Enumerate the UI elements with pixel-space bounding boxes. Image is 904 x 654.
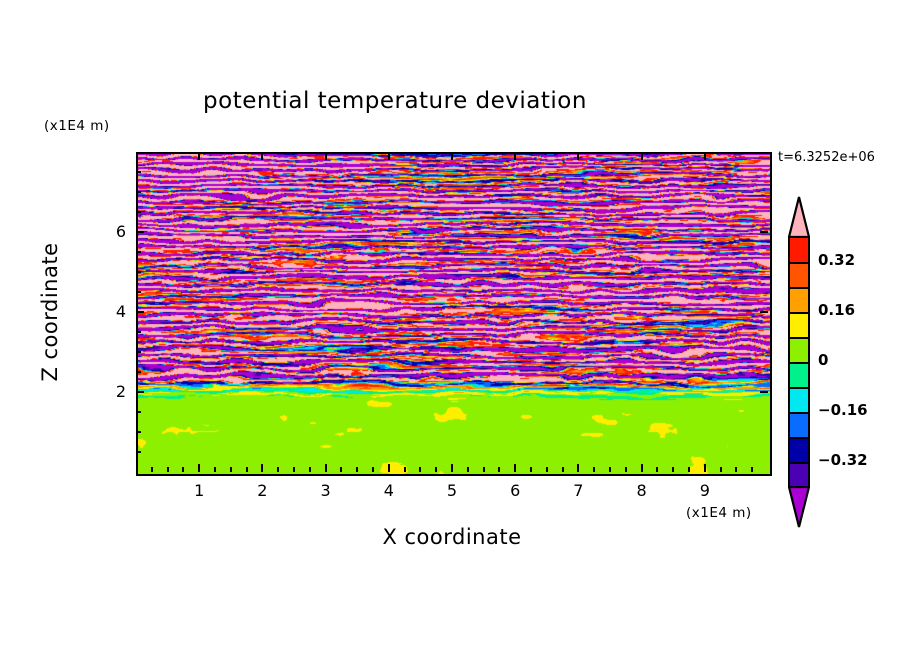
colorbar-separator <box>790 362 808 364</box>
x-minor-tick <box>435 467 437 472</box>
colorbar: 0.320.160−0.16−0.32 <box>788 196 812 526</box>
x-tick-mark <box>198 464 200 472</box>
x-tick-label: 2 <box>247 481 277 500</box>
y-tick-label: 2 <box>96 382 126 401</box>
x-minor-tick <box>656 467 658 472</box>
x-minor-tick <box>309 467 311 472</box>
y-minor-tick <box>136 331 141 333</box>
colorbar-band <box>790 338 808 364</box>
x-minor-tick <box>735 467 737 472</box>
x-minor-tick <box>246 467 248 472</box>
y-minor-tick <box>136 311 141 313</box>
contour-field-canvas <box>138 154 770 474</box>
y-minor-tick <box>136 271 141 273</box>
x-minor-tick <box>151 467 153 472</box>
x-tick-label: 7 <box>563 481 593 500</box>
colorbar-separator <box>790 312 808 314</box>
x-minor-tick <box>672 467 674 472</box>
colorbar-band <box>790 413 808 439</box>
x-tick-mark <box>388 152 390 160</box>
colorbar-separator <box>790 387 808 389</box>
x-tick-label: 9 <box>690 481 720 500</box>
x-tick-mark <box>577 152 579 160</box>
colorbar-separator <box>790 462 808 464</box>
x-minor-tick <box>625 467 627 472</box>
y-minor-tick <box>136 431 141 433</box>
x-tick-mark <box>577 464 579 472</box>
contour-plot-area <box>136 152 772 476</box>
x-tick-label: 6 <box>500 481 530 500</box>
x-tick-mark <box>641 464 643 472</box>
colorbar-band <box>790 238 808 264</box>
page-title: potential temperature deviation <box>0 88 790 114</box>
x-minor-tick <box>167 467 169 472</box>
x-tick-mark <box>451 464 453 472</box>
y-minor-tick <box>136 251 141 253</box>
colorbar-tick-label: 0.32 <box>818 251 855 269</box>
colorbar-band <box>790 313 808 339</box>
x-minor-tick <box>720 467 722 472</box>
colorbar-tick-label: −0.32 <box>818 451 868 469</box>
x-minor-tick <box>404 467 406 472</box>
colorbar-tick-label: −0.16 <box>818 401 868 419</box>
x-minor-tick <box>483 467 485 472</box>
x-tick-mark <box>514 464 516 472</box>
colorbar-separator <box>790 337 808 339</box>
x-tick-label: 3 <box>311 481 341 500</box>
y-minor-tick <box>136 231 141 233</box>
x-tick-mark <box>198 152 200 160</box>
colorbar-over-arrow <box>788 196 810 238</box>
x-minor-tick <box>562 467 564 472</box>
y-tick-label: 4 <box>96 302 126 321</box>
y-axis-title: Z coordinate <box>38 232 62 392</box>
y-minor-tick <box>136 371 141 373</box>
x-tick-mark <box>704 464 706 472</box>
colorbar-band <box>790 388 808 414</box>
x-tick-mark <box>261 464 263 472</box>
colorbar-band <box>790 438 808 464</box>
x-minor-tick <box>182 467 184 472</box>
x-axis-unit-label: (x1E4 m) <box>686 505 752 521</box>
x-minor-tick <box>530 467 532 472</box>
y-minor-tick <box>136 391 141 393</box>
x-minor-tick <box>419 467 421 472</box>
x-tick-mark <box>388 464 390 472</box>
x-tick-mark <box>514 152 516 160</box>
timestamp-label: t=6.3252e+06 <box>778 150 875 165</box>
y-minor-tick <box>136 451 141 453</box>
y-minor-tick <box>136 211 141 213</box>
y-tick-mark <box>760 391 768 393</box>
colorbar-tick-label: 0.16 <box>818 301 855 319</box>
colorbar-separator <box>790 262 808 264</box>
x-minor-tick <box>214 467 216 472</box>
x-axis-title: X coordinate <box>136 525 768 549</box>
x-minor-tick <box>546 467 548 472</box>
colorbar-tick-label: 0 <box>818 351 828 369</box>
y-minor-tick <box>136 191 141 193</box>
y-minor-tick <box>136 171 141 173</box>
y-minor-tick <box>136 291 141 293</box>
colorbar-band <box>790 263 808 289</box>
colorbar-band <box>790 288 808 314</box>
colorbar-band <box>790 363 808 389</box>
x-tick-mark <box>704 152 706 160</box>
figure-canvas: potential temperature deviation (x1E4 m)… <box>0 0 904 654</box>
colorbar-band <box>790 463 808 489</box>
colorbar-separator <box>790 287 808 289</box>
x-minor-tick <box>751 467 753 472</box>
x-minor-tick <box>356 467 358 472</box>
x-tick-label: 5 <box>437 481 467 500</box>
x-minor-tick <box>372 467 374 472</box>
x-tick-mark <box>641 152 643 160</box>
x-minor-tick <box>340 467 342 472</box>
y-minor-tick <box>136 351 141 353</box>
x-minor-tick <box>230 467 232 472</box>
x-minor-tick <box>498 467 500 472</box>
y-tick-mark <box>760 231 768 233</box>
y-tick-mark <box>760 311 768 313</box>
x-tick-mark <box>261 152 263 160</box>
colorbar-bands <box>788 236 810 486</box>
x-minor-tick <box>688 467 690 472</box>
colorbar-separator <box>790 437 808 439</box>
x-minor-tick <box>293 467 295 472</box>
y-minor-tick <box>136 411 141 413</box>
x-tick-mark <box>451 152 453 160</box>
x-minor-tick <box>593 467 595 472</box>
colorbar-separator <box>790 412 808 414</box>
colorbar-under-arrow <box>788 486 810 528</box>
z-axis-unit-label: (x1E4 m) <box>44 118 110 134</box>
x-tick-label: 8 <box>627 481 657 500</box>
x-tick-label: 4 <box>374 481 404 500</box>
x-tick-mark <box>325 152 327 160</box>
x-minor-tick <box>609 467 611 472</box>
x-tick-mark <box>325 464 327 472</box>
x-minor-tick <box>467 467 469 472</box>
x-tick-label: 1 <box>184 481 214 500</box>
y-tick-label: 6 <box>96 222 126 241</box>
x-minor-tick <box>277 467 279 472</box>
